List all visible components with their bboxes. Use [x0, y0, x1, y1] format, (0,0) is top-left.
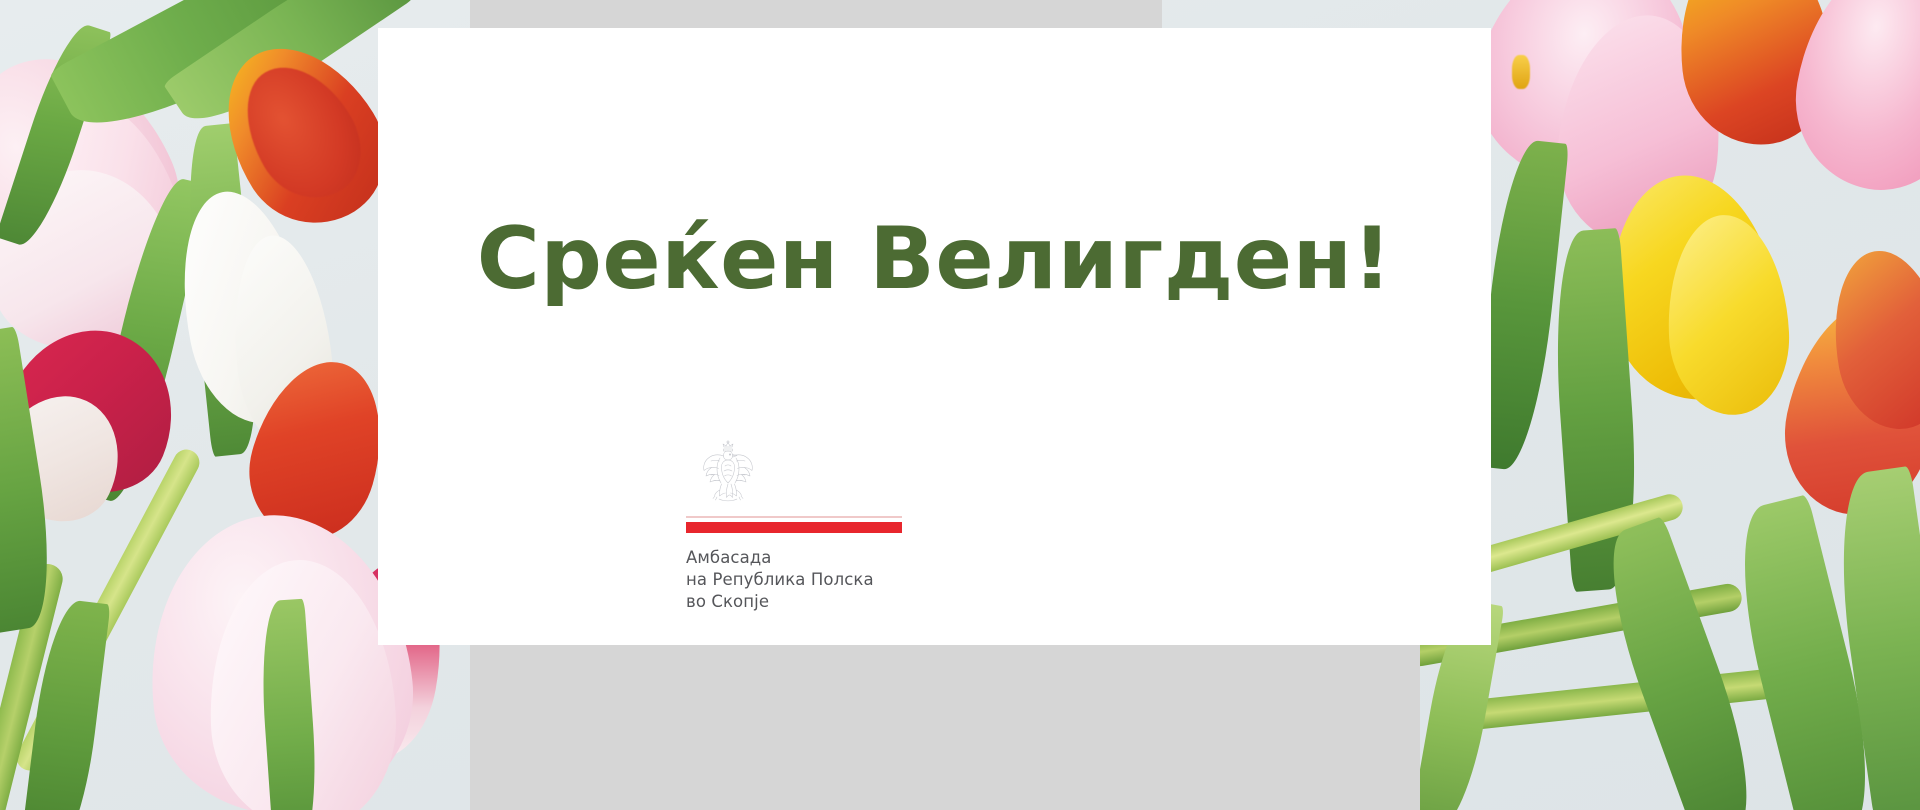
embassy-line-2: на Република Полска: [686, 569, 916, 591]
embassy-line-1: Амбасада: [686, 547, 916, 569]
logo-red-bar: [686, 522, 902, 533]
embassy-name-text: Амбасада на Република Полска во Скопје: [686, 547, 916, 612]
greeting-title: Среќен Велигден!: [378, 214, 1491, 304]
grey-band-bottom-right: [1160, 640, 1420, 810]
embassy-line-3: во Скопје: [686, 591, 916, 613]
logo-hairline-divider: [686, 516, 902, 518]
white-content-card: Среќен Велигден!: [378, 28, 1491, 645]
stamen-yellow: [1512, 55, 1530, 89]
polish-eagle-emblem: [700, 438, 756, 504]
easter-greeting-card: Среќен Велигден!: [0, 0, 1920, 810]
embassy-logo-lockup: Амбасада на Република Полска во Скопје: [686, 438, 916, 612]
grey-band-top: [470, 0, 1162, 28]
